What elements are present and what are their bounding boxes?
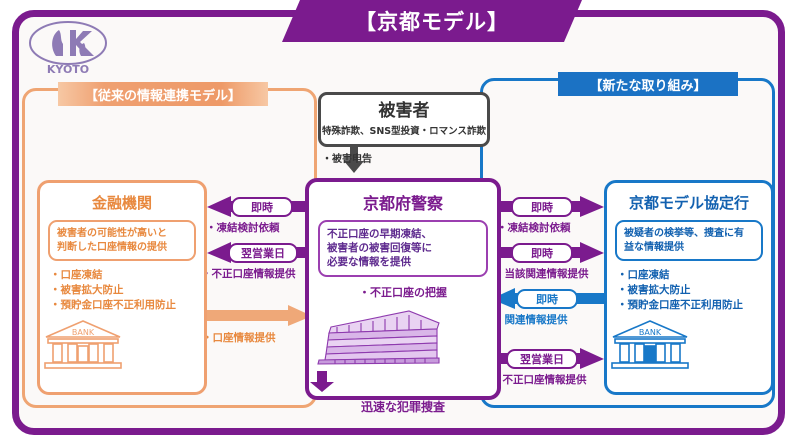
police-note-line-2: 被害者の被害回復等に <box>327 241 479 255</box>
legacy-model-tag-label: 【従来の情報連携モデル】 <box>85 85 241 104</box>
connector-left-3-sublabel: ・口座情報提供 <box>202 330 276 345</box>
financial-institution-bullets: ・口座凍結 ・被害拡大防止 ・預貯金口座不正利用防止 <box>50 268 204 314</box>
fi-bullet-3: ・預貯金口座不正利用防止 <box>50 298 204 313</box>
page-title: 【京都モデル】 <box>355 6 509 36</box>
connector-right-3-badge-label: 即時 <box>536 291 558 307</box>
connector-left-1-sublabel: ・凍結検討依頼 <box>206 220 280 235</box>
financial-institution-box: 金融機関 被害者の可能性が高いと 判断した口座情報の提供 ・口座凍結 ・被害拡大… <box>37 180 207 395</box>
connector-right-1-badge: 即時 <box>511 197 573 217</box>
connector-right-4-badge: 翌営業日 <box>506 349 578 369</box>
page-title-banner: 【京都モデル】 <box>282 0 582 42</box>
svg-text:BANK: BANK <box>639 328 662 337</box>
connector-left-2-badge: 翌営業日 <box>228 243 298 263</box>
connector-right-3-sublabel: ・関連情報提供 <box>494 312 568 327</box>
fi-bullet-1: ・口座凍結 <box>50 268 204 283</box>
connector-right-1-badge-label: 即時 <box>531 199 553 215</box>
victim-title: 被害者 <box>379 102 430 121</box>
connector-right-3-badge: 即時 <box>516 289 578 309</box>
financial-institution-title: 金融機関 <box>40 192 204 213</box>
connector-right-2-sublabel: ・当該関連情報提供 <box>494 266 589 281</box>
partner-bank-note: 被疑者の検挙等、捜査に有 益な情報提供 <box>615 220 763 261</box>
kyoto-logo: KYOTO <box>26 18 110 76</box>
police-footer-label: 迅速な犯罪捜査 <box>309 398 497 415</box>
connector-right-4-badge-label: 翌営業日 <box>520 351 564 367</box>
connector-left-2-badge-label: 翌営業日 <box>241 245 285 261</box>
victim-report-label: ・被害申告 <box>322 150 372 165</box>
connector-right-2-badge-label: 即時 <box>531 245 553 261</box>
svg-text:BANK: BANK <box>72 328 95 337</box>
partner-bank-box: 京都モデル協定行 被疑者の検挙等、捜査に有 益な情報提供 ・口座凍結 ・被害拡大… <box>604 180 774 395</box>
victim-subtitle: 特殊詐欺、SNS型投資・ロマンス詐欺 <box>322 123 486 137</box>
connector-right-1-sublabel: ・凍結検討依頼 <box>497 220 571 235</box>
police-note-line-3: 必要な情報を提供 <box>327 255 479 269</box>
partner-bank-title: 京都モデル協定行 <box>607 192 771 213</box>
pb-bullet-3: ・預貯金口座不正利用防止 <box>617 298 771 313</box>
legacy-model-tag: 【従来の情報連携モデル】 <box>58 82 268 106</box>
police-result-arrow-icon <box>309 371 497 397</box>
fi-note-line-1: 被害者の可能性が高いと <box>57 227 187 241</box>
police-title: 京都府警察 <box>309 190 497 214</box>
fi-bullet-2: ・被害拡大防止 <box>50 283 204 298</box>
financial-institution-note: 被害者の可能性が高いと 判断した口座情報の提供 <box>48 220 196 261</box>
pb-bullet-1: ・口座凍結 <box>617 268 771 283</box>
new-initiative-tag-label: 【新たな取り組み】 <box>589 75 706 94</box>
police-bullet: ・不正口座の把握 <box>309 284 497 300</box>
bank-icon: BANK <box>40 318 204 374</box>
connector-left-2-sublabel: ・不正口座情報提供 <box>201 266 296 281</box>
connector-right-2-badge: 即時 <box>511 243 573 263</box>
pb-note-line-1: 被疑者の検挙等、捜査に有 <box>624 227 754 241</box>
connector-left-1-badge: 即時 <box>231 197 293 217</box>
diagram-canvas: 【京都モデル】 KYOTO 【従来の情報連携モデル】 【新たな取り組み】 被害者… <box>0 0 797 447</box>
connector-left-1-badge-label: 即時 <box>251 199 273 215</box>
fi-note-line-2: 判断した口座情報の提供 <box>57 241 187 255</box>
police-box: 京都府警察 不正口座の早期凍結、 被害者の被害回復等に 必要な情報を提供 ・不正… <box>305 178 501 400</box>
pb-bullet-2: ・被害拡大防止 <box>617 283 771 298</box>
partner-bank-bullets: ・口座凍結 ・被害拡大防止 ・預貯金口座不正利用防止 <box>617 268 771 314</box>
police-building-icon <box>309 303 497 371</box>
police-inner-note: 不正口座の早期凍結、 被害者の被害回復等に 必要な情報を提供 <box>318 220 488 277</box>
connector-right-4-sublabel: ・不正口座情報提供 <box>492 372 587 387</box>
police-note-line-1: 不正口座の早期凍結、 <box>327 227 479 241</box>
svg-text:KYOTO: KYOTO <box>47 63 89 76</box>
bank-icon: BANK <box>607 318 771 374</box>
new-initiative-tag: 【新たな取り組み】 <box>558 72 738 96</box>
victim-box: 被害者 特殊詐欺、SNS型投資・ロマンス詐欺 <box>318 92 490 147</box>
connector-left-3-arrow-icon <box>196 305 314 331</box>
pb-note-line-2: 益な情報提供 <box>624 241 754 255</box>
